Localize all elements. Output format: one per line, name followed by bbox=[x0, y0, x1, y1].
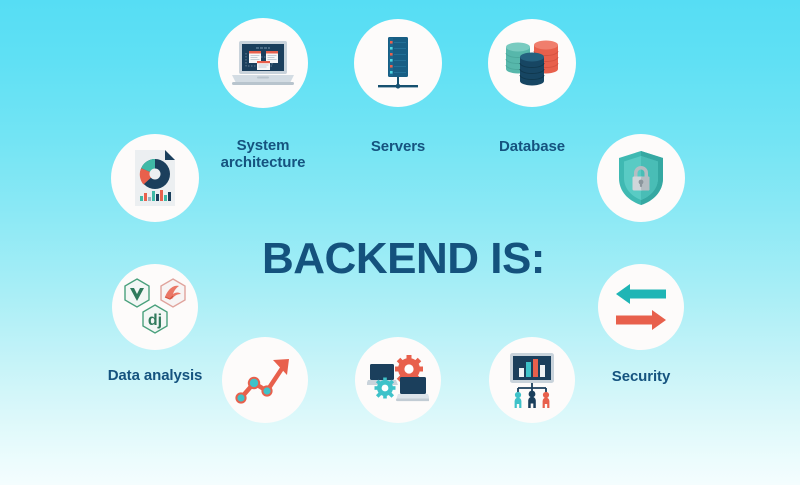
icon-circle bbox=[488, 19, 576, 107]
server-rack-icon bbox=[375, 35, 421, 91]
icon-circle bbox=[597, 134, 685, 222]
node-label: Security bbox=[612, 368, 670, 385]
laptops-gears-icon bbox=[367, 355, 429, 405]
growth-arrow-icon bbox=[235, 354, 295, 406]
page-title: BACKEND IS: bbox=[262, 236, 545, 282]
svg-text:dj: dj bbox=[148, 312, 162, 329]
node-label: Servers bbox=[371, 138, 425, 155]
icon-circle bbox=[598, 264, 684, 350]
infographic-canvas: BACKEND IS: bbox=[0, 0, 800, 485]
presentation-people-icon bbox=[505, 351, 559, 409]
framework-hexagons-icon: dj bbox=[121, 277, 189, 337]
icon-circle: dj bbox=[112, 264, 198, 350]
django-hexagon-icon: dj bbox=[143, 305, 167, 333]
two-arrows-icon bbox=[614, 283, 668, 331]
node-label: System architecture bbox=[221, 137, 306, 171]
icon-circle bbox=[222, 337, 308, 423]
database-cylinders-icon bbox=[502, 37, 562, 89]
laravel-hexagon-icon bbox=[161, 279, 185, 307]
icon-circle bbox=[354, 19, 442, 107]
icon-circle bbox=[111, 134, 199, 222]
icon-circle bbox=[355, 337, 441, 423]
person-teal-icon bbox=[515, 392, 522, 408]
node-label: Data analysis bbox=[108, 367, 203, 384]
laptop-architecture-icon bbox=[232, 39, 294, 87]
teal-gear-icon bbox=[375, 378, 396, 399]
icon-circle bbox=[218, 18, 308, 108]
chart-document-icon bbox=[131, 148, 179, 208]
shield-lock-icon bbox=[615, 149, 667, 207]
node-label: Database bbox=[499, 138, 565, 155]
icon-circle bbox=[489, 337, 575, 423]
person-red-icon bbox=[543, 392, 550, 408]
person-navy-icon bbox=[528, 391, 536, 408]
vue-hexagon-icon bbox=[125, 279, 149, 307]
